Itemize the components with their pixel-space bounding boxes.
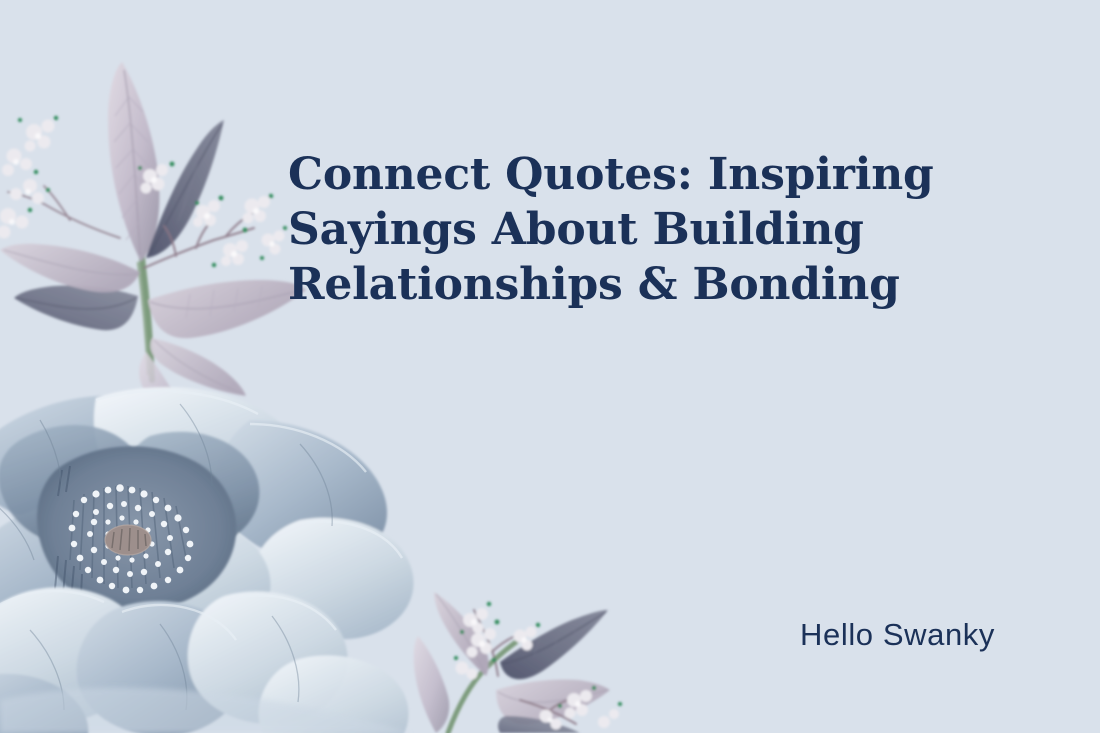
top-left-botanical-sprig bbox=[0, 62, 306, 436]
blossom-cluster-left bbox=[0, 116, 120, 239]
brand-name: Hello Swanky bbox=[800, 617, 995, 653]
bottom-center-botanical-sprig bbox=[414, 592, 622, 733]
poster-canvas: Connect Quotes: Inspiring Sayings About … bbox=[0, 0, 1100, 733]
peony-flower bbox=[0, 387, 414, 733]
page-title-line-3: Relationships & Bonding bbox=[288, 257, 888, 312]
stamen-dots bbox=[69, 484, 194, 593]
page-title-line-1: Connect Quotes: Inspiring bbox=[288, 147, 888, 202]
stamen-center bbox=[105, 525, 151, 555]
page-title: Connect Quotes: Inspiring Sayings About … bbox=[288, 147, 888, 312]
blossom-cluster-right bbox=[138, 162, 287, 268]
page-title-line-2: Sayings About Building bbox=[288, 202, 888, 257]
